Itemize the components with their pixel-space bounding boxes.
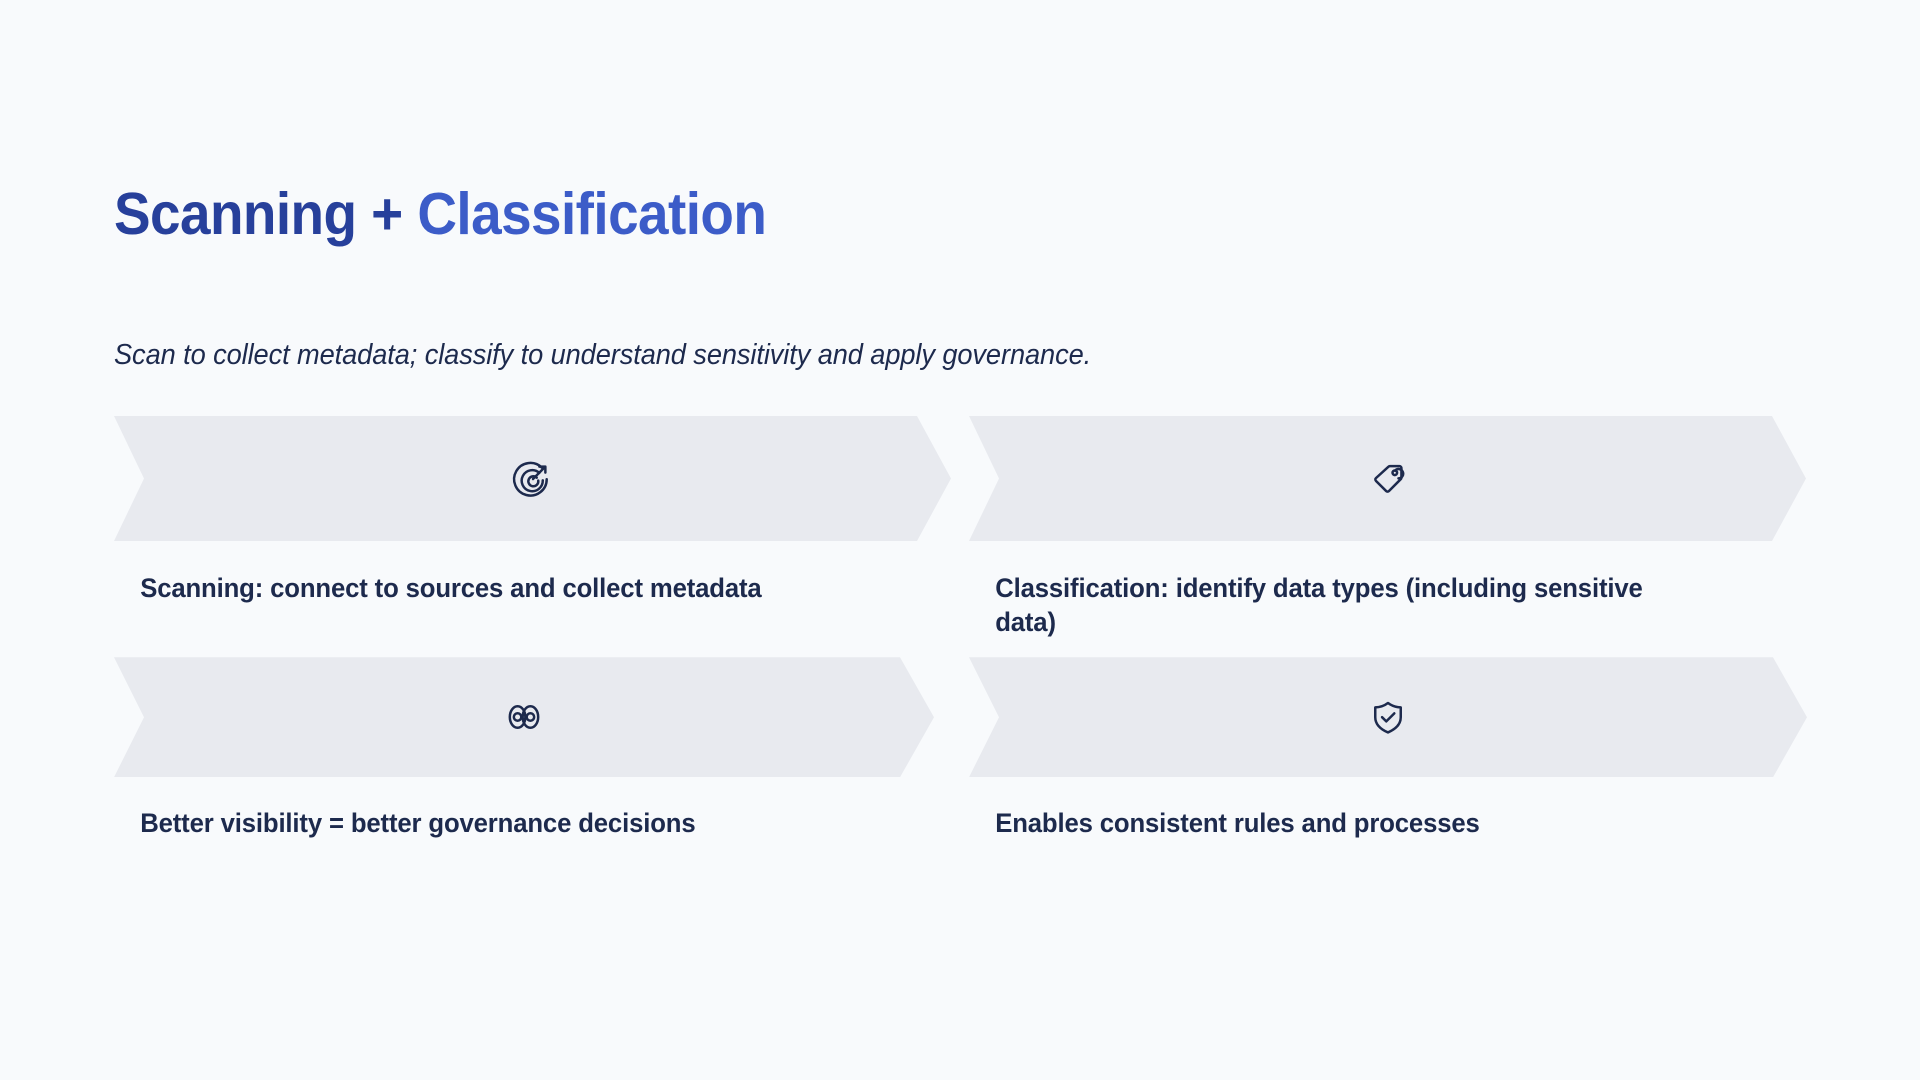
feature-caption: Scanning: connect to sources and collect…	[114, 572, 819, 606]
feature-item-visibility: Better visibility = better governance de…	[114, 657, 951, 841]
feature-item-classification: Classification: identify data types (inc…	[969, 416, 1806, 639]
page-title-primary: Scanning +	[114, 181, 403, 247]
tag-icon	[1365, 456, 1411, 502]
feature-row-2: Better visibility = better governance de…	[114, 657, 1806, 841]
feature-caption: Better visibility = better governance de…	[114, 807, 926, 841]
slide-canvas: Scanning + Classification Scan to collec…	[0, 0, 1920, 1080]
feature-item-consistency: Enables consistent rules and processes	[969, 657, 1806, 841]
radar-scan-icon	[510, 456, 556, 502]
feature-grid: Scanning: connect to sources and collect…	[114, 416, 1806, 841]
feature-row-1: Scanning: connect to sources and collect…	[114, 416, 1806, 639]
feature-item-scanning: Scanning: connect to sources and collect…	[114, 416, 951, 639]
banner-visibility	[114, 657, 934, 777]
page-title: Scanning + Classification	[114, 182, 766, 247]
page-title-accent: Classification	[417, 181, 766, 247]
eyes-icon	[501, 694, 547, 740]
banner-classification	[969, 416, 1806, 541]
page-subtitle: Scan to collect metadata; classify to un…	[114, 339, 1091, 372]
banner-scanning	[114, 416, 951, 541]
feature-caption: Classification: identify data types (inc…	[969, 572, 1674, 639]
shield-check-icon	[1365, 694, 1411, 740]
banner-consistency	[969, 657, 1807, 777]
page-title-spacer	[403, 181, 418, 247]
feature-caption: Enables consistent rules and processes	[969, 807, 1781, 841]
